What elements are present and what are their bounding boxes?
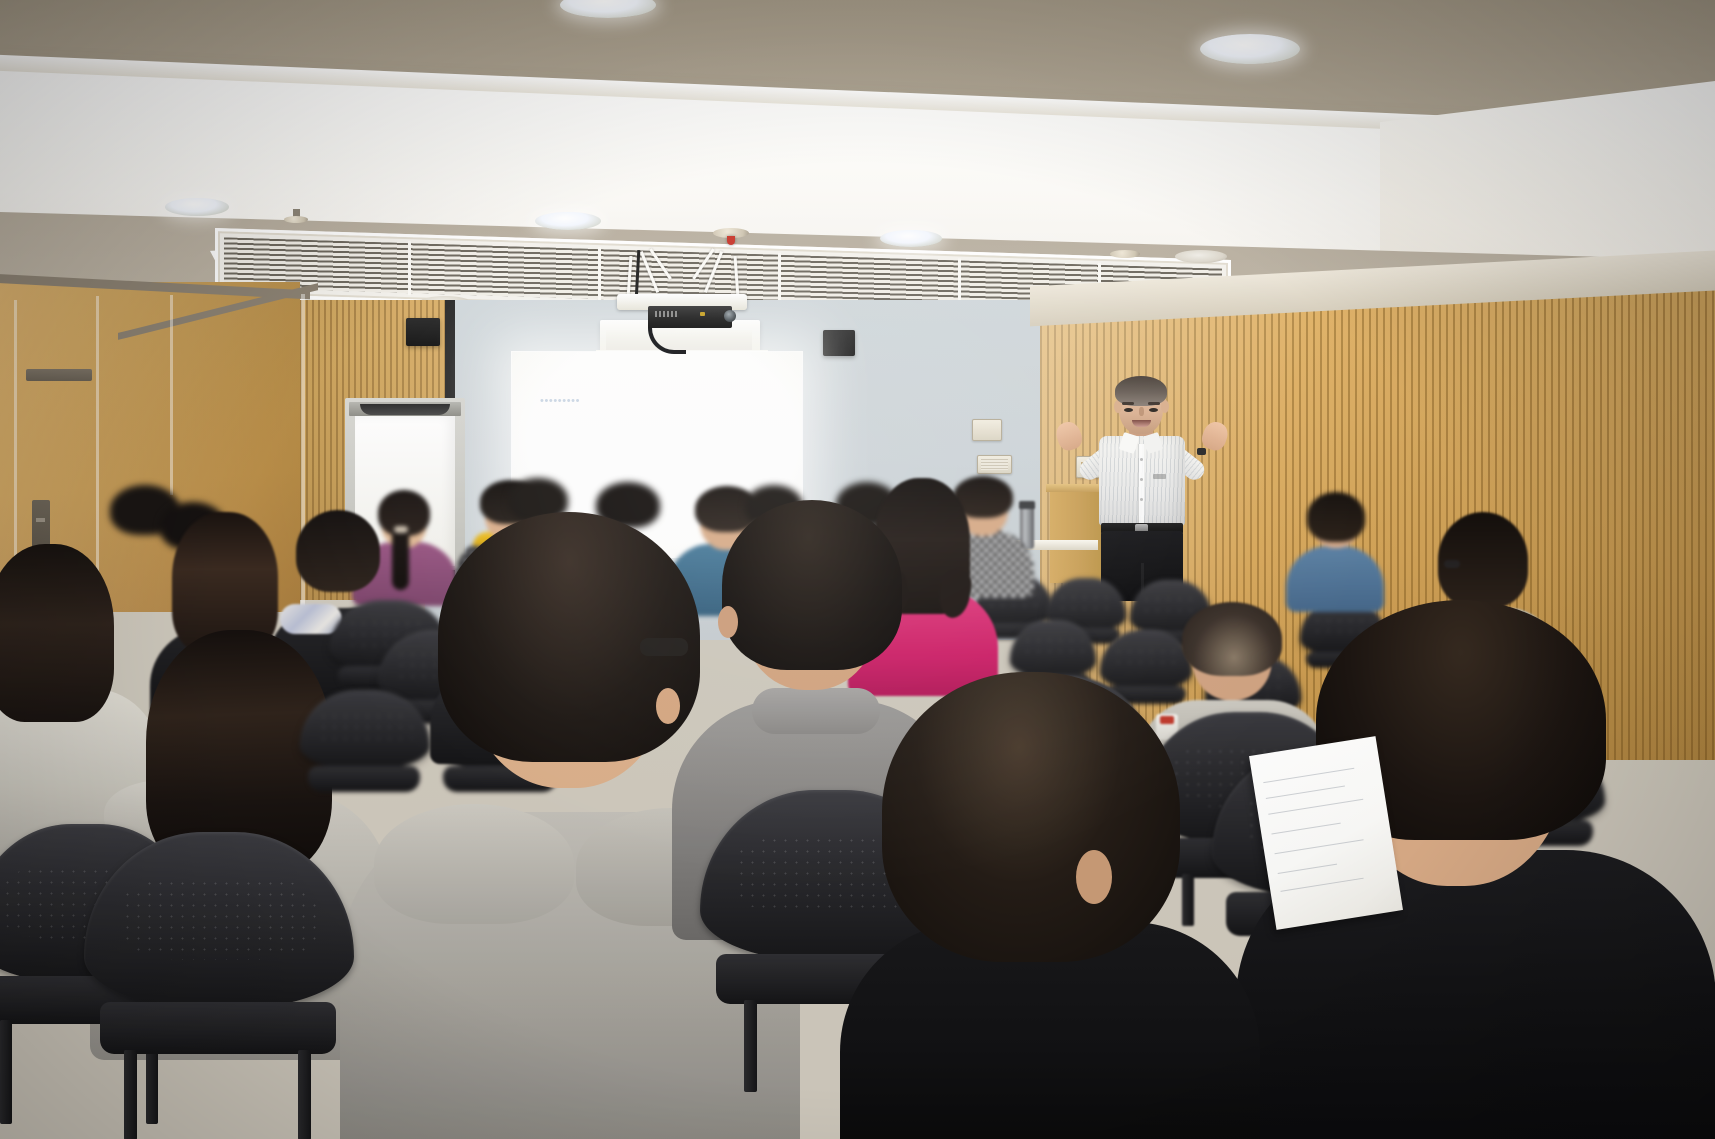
wall-speaker-left [406, 318, 440, 346]
ear [718, 606, 738, 638]
downlight-icon [880, 230, 942, 247]
presenter-nose [1139, 407, 1144, 416]
hood [374, 804, 574, 924]
projection-screen-text: ••••••••• [540, 395, 660, 409]
sprinkler-plate [1110, 250, 1140, 258]
partition-seam [170, 295, 173, 495]
door-lock-slot [36, 518, 45, 522]
downlight-icon [165, 198, 229, 216]
lecture-hall-photo: ••••••••• [0, 0, 1715, 1139]
presenter-shirt-pocket [1153, 474, 1166, 479]
handout-paper[interactable] [1249, 736, 1403, 930]
door-handle[interactable] [26, 369, 92, 381]
presenter-left-hand [1053, 419, 1085, 454]
wall-speaker-right [823, 330, 855, 356]
sprinkler-head-icon [727, 236, 735, 245]
presenter [1055, 378, 1245, 593]
attendee-lightblue-backrow [1286, 492, 1384, 608]
chair[interactable] [84, 832, 354, 1137]
downlight-icon [535, 212, 601, 230]
projector-indicator-icon [700, 312, 705, 316]
projector [648, 306, 732, 328]
downlight-icon [1200, 34, 1300, 64]
sprinkler-plate [284, 216, 308, 223]
wristwatch-icon [1197, 448, 1206, 455]
wall-plate[interactable] [972, 419, 1002, 441]
downlight-icon [1175, 250, 1227, 263]
presenter-shirt-placket [1139, 444, 1144, 524]
wall-plate[interactable] [977, 455, 1012, 474]
projector-vent [655, 311, 679, 317]
eyeglasses-icon [1444, 560, 1460, 568]
projector-lens-icon [724, 310, 736, 322]
ear [1076, 850, 1112, 904]
attendee-with-paper [840, 672, 1260, 1139]
flipchart-clamp [360, 404, 450, 415]
